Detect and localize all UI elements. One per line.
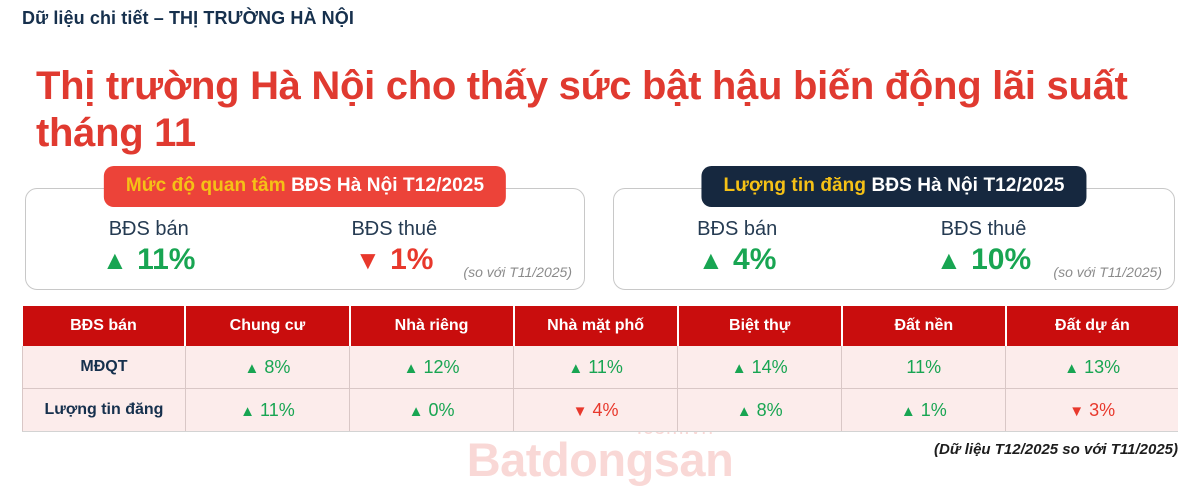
cell-value: 3% [1089,400,1115,420]
table-cell: 11% [842,346,1006,389]
triangle-up-icon: ▲ [404,360,419,377]
market-data-table: BĐS bánChung cưNhà riêngNhà mặt phốBiệt … [22,306,1178,432]
compare-note: (so với T11/2025) [1053,264,1162,280]
table-cell: ▼ 3% [1006,389,1178,432]
table-body: MĐQT▲ 8%▲ 12%▲ 11%▲ 14%11%▲ 13%Lượng tin… [23,346,1179,432]
card-body: BĐS bán ▲ 4% BĐS thuê ▲ 10% (so với T11/… [614,189,1174,289]
cell-value: 8% [757,400,783,420]
cell-value: 11% [906,357,941,377]
triangle-up-icon: ▲ [732,360,747,377]
cell-value: 1% [921,400,947,420]
metric-bds-ban: BĐS bán ▲ 11% [26,217,272,278]
watermark-brand: Batdongsan [467,438,734,483]
cell-value: 14% [752,357,788,377]
summary-card-luong-tin-dang: Lượng tin đăng BĐS Hà Nội T12/2025 BĐS b… [613,188,1175,290]
metric-number: 1% [390,243,433,276]
metric-label: BĐS thuê [272,217,518,242]
eyebrow-label: Dữ liệu chi tiết – THỊ TRƯỜNG HÀ NỘI [22,8,354,29]
triangle-up-icon: ▲ [901,403,916,420]
cell-value: 0% [428,400,454,420]
table-column-header: Nhà riêng [350,306,514,346]
table-cell: ▲ 8% [185,346,349,389]
table-column-header: Chung cư [185,306,349,346]
metric-label: BĐS bán [614,217,860,242]
metric-bds-ban: BĐS bán ▲ 4% [614,217,860,278]
table-row-label: MĐQT [23,346,186,389]
card-body: BĐS bán ▲ 11% BĐS thuê ▼ 1% (so với T11/… [26,189,584,289]
table-cell: ▲ 8% [678,389,842,432]
cell-value: 12% [423,357,459,377]
triangle-up-icon: ▲ [245,360,260,377]
metric-label: BĐS bán [26,217,272,242]
triangle-up-icon: ▲ [936,245,963,275]
table-cell: ▼ 4% [514,389,678,432]
cell-value: 11% [588,357,623,377]
page-title: Thị trường Hà Nội cho thấy sức bật hậu b… [36,63,1156,157]
table-cell: ▲ 1% [842,389,1006,432]
cell-value: 8% [264,357,290,377]
cell-value: 11% [260,400,295,420]
triangle-up-icon: ▲ [737,403,752,420]
summary-card-muc-do-quan-tam: Mức độ quan tâm BĐS Hà Nội T12/2025 BĐS … [25,188,585,290]
data-table-container: BĐS bánChung cưNhà riêngNhà mặt phốBiệt … [22,306,1178,432]
table-column-header: Nhà mặt phố [514,306,678,346]
metric-label: BĐS thuê [860,217,1106,242]
metric-number: 11% [137,243,195,276]
triangle-up-icon: ▲ [568,360,583,377]
triangle-down-icon: ▼ [355,245,382,275]
table-header-row: BĐS bánChung cưNhà riêngNhà mặt phốBiệt … [23,306,1179,346]
footer-note: (Dữ liệu T12/2025 so với T11/2025) [934,441,1178,458]
table-column-header: Biệt thự [678,306,842,346]
triangle-up-icon: ▲ [102,245,129,275]
triangle-up-icon: ▲ [409,403,424,420]
cell-value: 13% [1084,357,1120,377]
table-header: BĐS bánChung cưNhà riêngNhà mặt phốBiệt … [23,306,1179,346]
table-cell: ▲ 12% [350,346,514,389]
triangle-up-icon: ▲ [240,403,255,420]
triangle-down-icon: ▼ [573,403,588,420]
compare-note: (so với T11/2025) [463,264,572,280]
metric-number: 4% [733,243,776,276]
table-cell: ▲ 14% [678,346,842,389]
table-row: Lượng tin đăng▲ 11%▲ 0%▼ 4%▲ 8%▲ 1%▼ 3% [23,389,1179,432]
metric-number: 10% [971,243,1031,276]
table-cell: ▲ 11% [514,346,678,389]
table-cell: ▲ 13% [1006,346,1178,389]
triangle-up-icon: ▲ [1064,360,1079,377]
table-column-header: BĐS bán [23,306,186,346]
triangle-up-icon: ▲ [698,245,725,275]
metric-value: ▲ 11% [26,242,272,278]
table-row: MĐQT▲ 8%▲ 12%▲ 11%▲ 14%11%▲ 13% [23,346,1179,389]
table-cell: ▲ 11% [185,389,349,432]
table-cell: ▲ 0% [350,389,514,432]
table-row-label: Lượng tin đăng [23,389,186,432]
table-column-header: Đất dự án [1006,306,1178,346]
triangle-down-icon: ▼ [1069,403,1084,420]
metric-value: ▲ 4% [614,242,860,278]
cell-value: 4% [593,400,619,420]
table-column-header: Đất nền [842,306,1006,346]
